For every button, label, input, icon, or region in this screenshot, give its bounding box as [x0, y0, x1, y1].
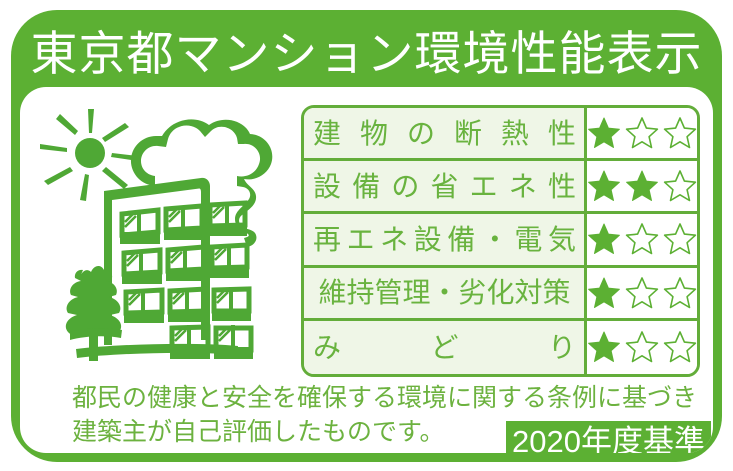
label-char: 設: [313, 163, 341, 210]
table-row: 再 エ ネ 設 備 ・ 電 気: [304, 214, 697, 267]
label-char: 設: [414, 216, 442, 263]
rating-stars-insulation: [587, 108, 697, 158]
table-row: 設 備 の 省 エ ネ 性: [304, 161, 697, 214]
label-char: 備: [352, 163, 380, 210]
table-row: 建 物 の 断 熱 性: [304, 108, 697, 161]
note-line-1: 都民の健康と安全を確保する環境に関する条例に基づき: [20, 381, 713, 415]
label-char: 電: [514, 216, 542, 263]
rating-label-insulation: 建 物 の 断 熱 性: [304, 108, 587, 158]
rating-stars-maintenance: [587, 268, 697, 318]
star-empty-icon: [625, 276, 659, 310]
star-filled-icon: [587, 116, 621, 150]
star-empty-icon: [625, 330, 659, 364]
rating-stars-renewable-energy: [587, 214, 697, 264]
label-char: ど: [430, 324, 458, 371]
star-filled-icon: [587, 276, 621, 310]
green-card-background: 東京都マンション環境性能表示: [11, 10, 722, 462]
table-row: み ど り: [304, 321, 697, 374]
rating-stars-greenery: [587, 321, 697, 374]
label-char: 物: [360, 110, 388, 157]
star-empty-icon: [663, 169, 697, 203]
label-char: ・: [481, 216, 509, 263]
content-panel: 建 物 の 断 熱 性 設 備 の 省 エ: [20, 87, 713, 453]
eco-performance-label: 東京都マンション環境性能表示: [0, 0, 733, 471]
table-row: 維持管理・劣化対策: [304, 268, 697, 321]
label-char: 再: [313, 216, 341, 263]
eco-apartment-illustration: [32, 101, 284, 376]
star-empty-icon: [663, 276, 697, 310]
label-char: の: [391, 163, 419, 210]
ratings-table: 建 物 の 断 熱 性 設 備 の 省 エ: [301, 105, 700, 377]
label-char: 備: [447, 216, 475, 263]
sun-icon: [40, 109, 138, 201]
label-char: 性: [548, 110, 576, 157]
rating-label-renewable-energy: 再 エ ネ 設 備 ・ 電 気: [304, 214, 587, 264]
label-char: 建: [313, 110, 341, 157]
label-char: 性: [548, 163, 576, 210]
star-empty-icon: [663, 116, 697, 150]
star-empty-icon: [625, 222, 659, 256]
label-char: エ: [470, 163, 498, 210]
star-empty-icon: [663, 222, 697, 256]
label-char: エ: [347, 216, 375, 263]
rating-label-greenery: み ど り: [304, 321, 587, 374]
star-filled-icon: [587, 330, 621, 364]
label-char: 断: [454, 110, 482, 157]
star-filled-icon: [587, 169, 621, 203]
label-char: 気: [548, 216, 576, 263]
label-char: の: [407, 110, 435, 157]
rating-label-maintenance: 維持管理・劣化対策: [304, 268, 587, 318]
label-char: 熱: [501, 110, 529, 157]
label-char: ネ: [509, 163, 537, 210]
star-empty-icon: [663, 330, 697, 364]
page-title: 東京都マンション環境性能表示: [11, 26, 722, 82]
rating-stars-energy-saving: [587, 161, 697, 211]
star-filled-icon: [587, 222, 621, 256]
rating-label-energy-saving: 設 備 の 省 エ ネ 性: [304, 161, 587, 211]
star-filled-icon: [625, 169, 659, 203]
label-char: ネ: [380, 216, 408, 263]
label-char: み: [313, 324, 341, 371]
window-icon: [120, 202, 253, 359]
label-char: り: [548, 324, 576, 371]
standard-year-badge: 2020年度基準: [506, 421, 711, 453]
label-char: 省: [430, 163, 458, 210]
star-empty-icon: [625, 116, 659, 150]
